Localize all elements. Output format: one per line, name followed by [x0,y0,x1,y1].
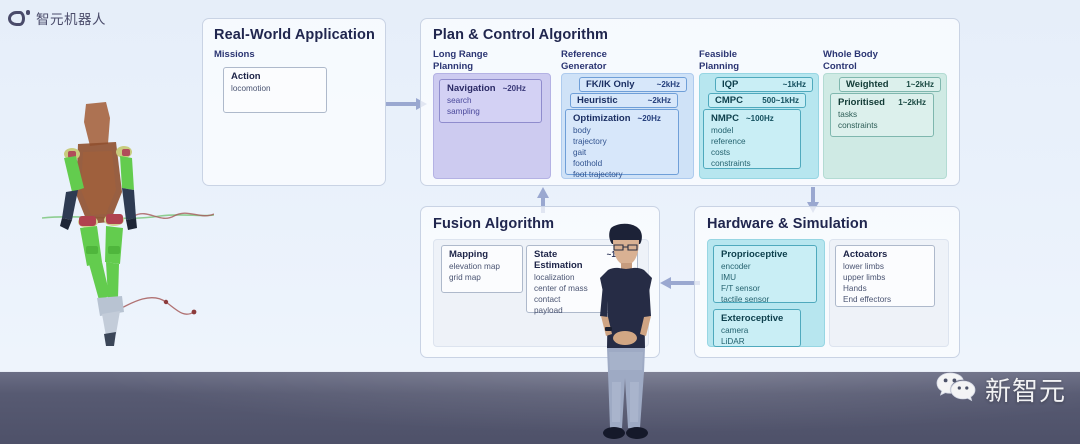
tile-mapping[interactable]: Mapping elevation map grid map [441,245,523,293]
tile-prioritised-items: tasks constraints [838,110,926,132]
tile-cmpc-hz: 500~1kHz [762,96,799,105]
tile-proprioceptive-items: encoder IMU F/T sensor tactile sensor [721,262,809,306]
tile-nmpc-name: NMPC [711,113,739,124]
tile-action-name: Action [231,71,261,82]
tile-heuristic-name: Heuristic [577,95,618,106]
tile-navigation-name: Navigation [447,83,496,94]
tile-heuristic[interactable]: Heuristic ~2kHz [570,93,678,108]
tile-navigation-items: search sampling [447,96,534,118]
tile-optimization-items: body trajectory gait foothold foot traje… [573,126,671,181]
tile-proprioceptive-name: Proprioceptive [721,249,788,260]
tile-optimization-name: Optimization [573,113,631,124]
tile-exteroceptive-name: Exteroceptive [721,313,783,324]
column-label-reference-generator: Reference Generator [561,49,607,72]
watermark-text: 新智元 [985,371,1066,408]
tile-weighted[interactable]: Weighted 1~2kHz [839,77,941,92]
tile-prioritised-name: Prioritised [838,97,885,108]
tile-mapping-name: Mapping [449,249,488,260]
presenter-figure [578,222,674,444]
tile-fk-ik-only[interactable]: FK/IK Only ~2kHz [579,77,687,92]
tile-optimization-hz: ~20Hz [638,114,661,123]
panel-plan-control-algorithm: Plan & Control Algorithm Long Range Plan… [420,18,960,186]
tile-prioritised-hz: 1~2kHz [898,98,926,107]
tile-cmpc[interactable]: CMPC 500~1kHz [708,93,806,108]
tile-heuristic-hz: ~2kHz [648,96,671,105]
tile-iqp-hz: ~1kHz [783,80,806,89]
tile-actoators[interactable]: Actoators lower limbs upper limbs Hands … [835,245,935,307]
tile-nmpc[interactable]: NMPC ~100Hz model reference costs constr… [703,109,801,169]
tile-action[interactable]: Action locomotion [223,67,327,113]
stage-floor [0,372,1080,444]
tile-actoators-name: Actoators [843,249,887,260]
hardware-title: Hardware & Simulation [707,216,868,232]
tile-iqp-name: IQP [722,79,738,90]
tile-weighted-name: Weighted [846,79,889,90]
tile-actoators-items: lower limbs upper limbs Hands End effect… [843,262,927,306]
tile-navigation-hz: ~20Hz [503,84,526,93]
tile-exteroceptive[interactable]: Exteroceptive camera LiDAR [713,309,801,347]
tile-cmpc-name: CMPC [715,95,743,106]
tile-prioritised[interactable]: Prioritised 1~2kHz tasks constraints [830,93,934,137]
panel-hardware-simulation: Hardware & Simulation Proprioceptive enc… [694,206,960,358]
tile-mapping-items: elevation map grid map [449,262,515,284]
tile-navigation[interactable]: Navigation ~20Hz search sampling [439,79,542,123]
tile-optimization[interactable]: Optimization ~20Hz body trajectory gait … [565,109,679,175]
tile-nmpc-hz: ~100Hz [746,114,774,123]
wechat-icon [936,371,976,408]
tile-nmpc-items: model reference costs constraints [711,126,793,170]
tile-fk-ik-only-hz: ~2kHz [657,80,680,89]
column-label-whole-body-control: Whole Body Control [823,49,878,72]
plan-control-title: Plan & Control Algorithm [433,27,608,43]
tile-fk-ik-only-name: FK/IK Only [586,79,635,90]
tile-exteroceptive-items: camera LiDAR [721,326,793,348]
watermark: 新智元 [936,371,1066,408]
tile-proprioceptive[interactable]: Proprioceptive encoder IMU F/T sensor ta… [713,245,817,303]
tile-iqp[interactable]: IQP ~1kHz [715,77,813,92]
column-label-long-range-planning: Long Range Planning [433,49,488,72]
tile-weighted-hz: 1~2kHz [906,80,934,89]
panel-real-world-application: Real-World Application Missions Action l… [202,18,386,186]
real-world-title: Real-World Application [214,27,375,43]
column-label-feasible-planning: Feasible Planning [699,49,739,72]
real-world-subtitle: Missions [214,49,255,60]
slide-diagram: Real-World Application Missions Action l… [0,0,1080,380]
fusion-title: Fusion Algorithm [433,216,554,232]
tile-action-items: locomotion [231,84,319,95]
